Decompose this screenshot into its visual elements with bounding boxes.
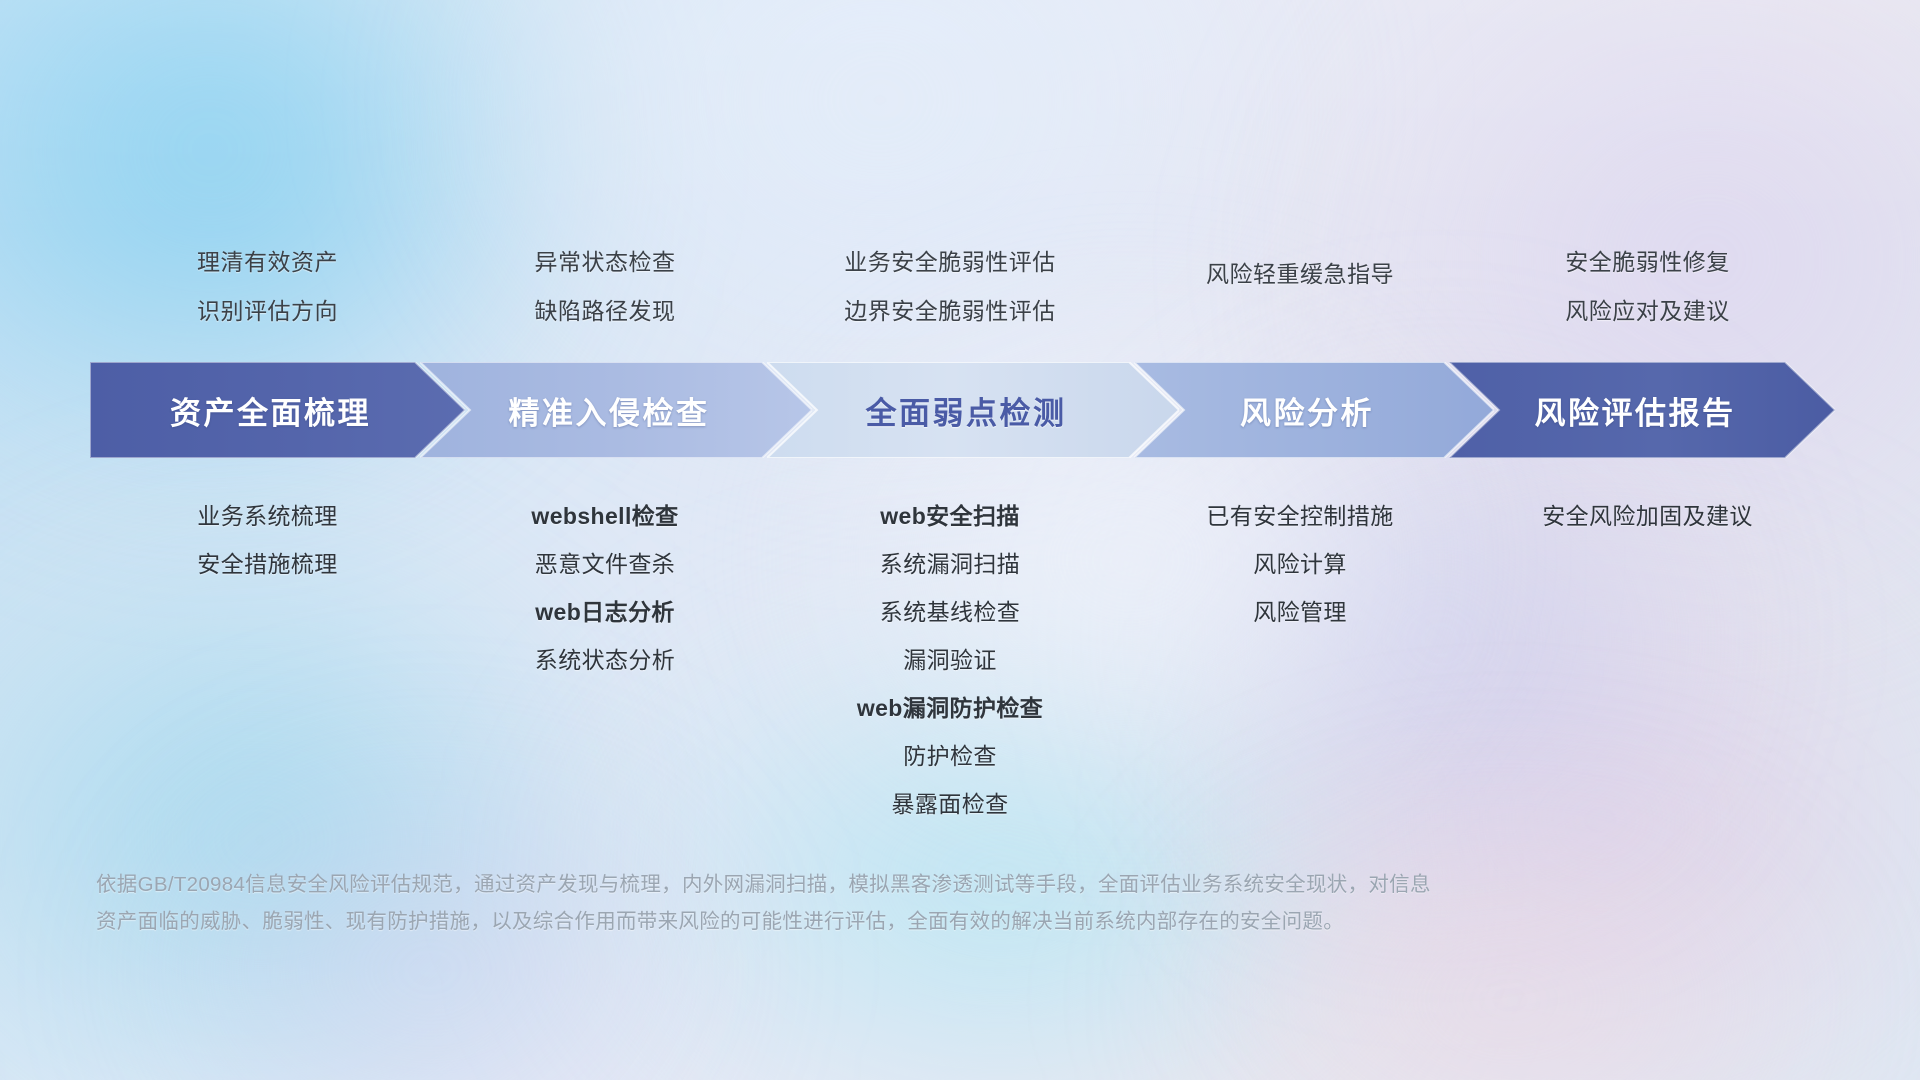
detail-item: 系统漏洞扫描 (880, 540, 1020, 588)
detail-list-stage-5: 安全风险加固及建议 (1470, 492, 1825, 540)
top-caption-line: 边界安全脆弱性评估 (844, 287, 1056, 336)
top-caption-line: 异常状态检查 (535, 238, 676, 287)
chevron-label: 全面弱点检测 (866, 388, 1067, 433)
detail-item: 系统状态分析 (535, 636, 675, 684)
top-caption-stage-1: 理清有效资产 识别评估方向 (95, 232, 440, 362)
footer-line-1: 依据GB/T20984信息安全风险评估规范，通过资产发现与梳理，内外网漏洞扫描，… (96, 866, 1656, 903)
top-caption-stage-2: 异常状态检查 缺陷路径发现 (440, 232, 770, 362)
chevron-stage-3[interactable]: 全面弱点检测 (767, 362, 1179, 458)
detail-list-stage-2: webshell检查 恶意文件查杀 web日志分析 系统状态分析 (440, 492, 770, 684)
process-chevron-band: 资产全面梳理 精准入侵检查 (90, 362, 1835, 458)
detail-item: 业务系统梳理 (197, 492, 337, 540)
top-caption-line: 识别评估方向 (197, 287, 338, 336)
footer-line-2: 资产面临的威胁、脆弱性、现有防护措施，以及综合作用而带来风险的可能性进行评估，全… (96, 903, 1656, 940)
detail-item: web日志分析 (535, 588, 675, 636)
detail-list-stage-4: 已有安全控制措施 风险计算 风险管理 (1130, 492, 1470, 636)
infographic-canvas: 理清有效资产 识别评估方向 异常状态检查 缺陷路径发现 业务安全脆弱性评估 边界… (0, 0, 1920, 1080)
top-caption-line: 理清有效资产 (197, 238, 338, 287)
detail-item: 暴露面检查 (892, 780, 1009, 828)
detail-item: 漏洞验证 (903, 636, 997, 684)
top-caption-line: 风险轻重缓急指导 (1206, 238, 1394, 311)
detail-item: 安全风险加固及建议 (1542, 492, 1753, 540)
top-caption-stage-4: 风险轻重缓急指导 (1130, 232, 1470, 362)
chevron-label: 风险分析 (1240, 388, 1374, 433)
detail-list-row: 业务系统梳理 安全措施梳理 webshell检查 恶意文件查杀 web日志分析 … (95, 492, 1825, 828)
detail-item: web安全扫描 (880, 492, 1020, 540)
top-caption-line: 缺陷路径发现 (535, 287, 676, 336)
detail-item: 恶意文件查杀 (535, 540, 675, 588)
detail-item: 已有安全控制措施 (1206, 492, 1393, 540)
detail-item: 防护检查 (903, 732, 997, 780)
detail-item: 安全措施梳理 (197, 540, 337, 588)
top-caption-stage-5: 安全脆弱性修复 风险应对及建议 (1470, 232, 1825, 362)
detail-item: 系统基线检查 (880, 588, 1020, 636)
chevron-stage-2[interactable]: 精准入侵检查 (420, 362, 812, 458)
chevron-label: 风险评估报告 (1535, 388, 1736, 433)
chevron-stage-5[interactable]: 风险评估报告 (1449, 362, 1835, 458)
footer-description: 依据GB/T20984信息安全风险评估规范，通过资产发现与梳理，内外网漏洞扫描，… (96, 866, 1656, 940)
detail-item: 风险计算 (1253, 540, 1347, 588)
top-caption-line: 业务安全脆弱性评估 (844, 238, 1056, 287)
detail-list-stage-3: web安全扫描 系统漏洞扫描 系统基线检查 漏洞验证 web漏洞防护检查 防护检… (770, 492, 1130, 828)
detail-item: webshell检查 (531, 492, 678, 540)
chevron-label: 资产全面梳理 (170, 388, 371, 433)
top-caption-line: 安全脆弱性修复 (1565, 238, 1730, 287)
top-caption-stage-3: 业务安全脆弱性评估 边界安全脆弱性评估 (770, 232, 1130, 362)
top-caption-line: 风险应对及建议 (1565, 287, 1730, 336)
detail-list-stage-1: 业务系统梳理 安全措施梳理 (95, 492, 440, 588)
top-caption-row: 理清有效资产 识别评估方向 异常状态检查 缺陷路径发现 业务安全脆弱性评估 边界… (95, 232, 1825, 362)
chevron-stage-4[interactable]: 风险分析 (1134, 362, 1494, 458)
detail-item: 风险管理 (1253, 588, 1347, 636)
chevron-stage-1[interactable]: 资产全面梳理 (90, 362, 465, 458)
detail-item: web漏洞防护检查 (857, 684, 1043, 732)
chevron-label: 精准入侵检查 (509, 388, 710, 433)
